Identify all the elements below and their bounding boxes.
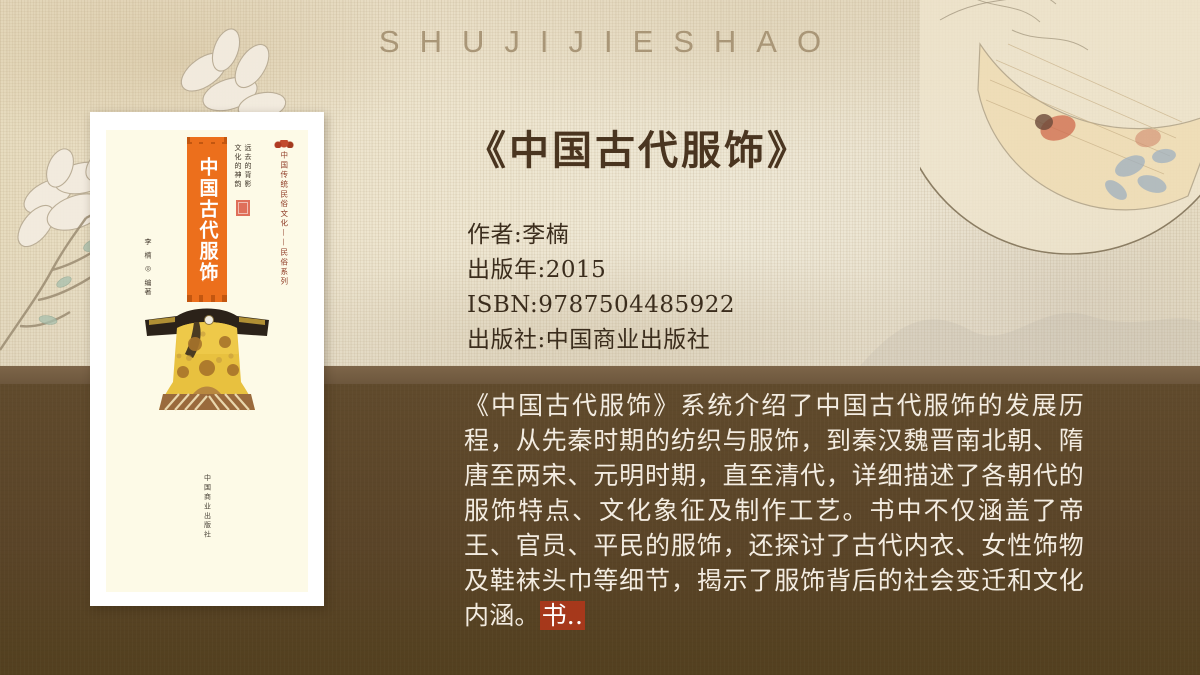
description-truncated-tail: 书.. xyxy=(540,601,586,630)
book-cover-card[interactable]: 中国古代服饰 远去的背影 文化的神韵 中国传统民俗文化——民俗系列 李 楠 ◎ … xyxy=(90,112,324,606)
dragon-robe-illustration xyxy=(137,298,277,418)
page-title: 《中国古代服饰》 xyxy=(466,118,810,176)
cover-publisher-text: 中国商业出版社 xyxy=(204,474,211,540)
cover-tagline: 远去的背影 文化的神韵 xyxy=(234,144,251,189)
meta-year: 出版年:2015 xyxy=(467,253,735,288)
cloud-ornament-icon xyxy=(274,140,294,148)
meta-author: 作者:李楠 xyxy=(467,218,735,253)
book-metadata-block: 作者:李楠 出版年:2015 ISBN:9787504485922 出版社:中国… xyxy=(467,218,735,358)
description-body: 《中国古代服饰》系统介绍了中国古代服饰的发展历程，从先秦时期的纺织与服饰，到秦汉… xyxy=(464,391,1084,630)
meta-publisher: 出版社:中国商业出版社 xyxy=(467,323,735,358)
cover-series-block: 中国传统民俗文化——民俗系列 xyxy=(274,140,294,287)
cover-tagline-left: 文化的神韵 xyxy=(234,144,241,189)
cover-series-text: 中国传统民俗文化——民俗系列 xyxy=(280,151,288,287)
cover-title-banner: 中国古代服饰 xyxy=(187,142,227,297)
book-cover-artwork: 中国古代服饰 远去的背影 文化的神韵 中国传统民俗文化——民俗系列 李 楠 ◎ … xyxy=(106,130,308,592)
slide-canvas: SHUJIJIESHAO 中国古代服饰 远去的背影 文化的神韵 中国传统民俗文化… xyxy=(0,0,1200,675)
ink-wash-mountain xyxy=(860,180,1200,366)
cover-title-text: 中国古代服饰 xyxy=(187,142,227,297)
cover-tagline-right: 远去的背影 xyxy=(244,144,251,189)
book-description: 《中国古代服饰》系统介绍了中国古代服饰的发展历程，从先秦时期的纺织与服饰，到秦汉… xyxy=(464,388,1084,633)
page-header-pinyin: SHUJIJIESHAO xyxy=(0,24,1200,60)
meta-isbn: ISBN:9787504485922 xyxy=(467,288,735,323)
cover-author-text: 李 楠 ◎ 编著 xyxy=(144,238,151,297)
seal-stamp-icon xyxy=(236,200,250,216)
